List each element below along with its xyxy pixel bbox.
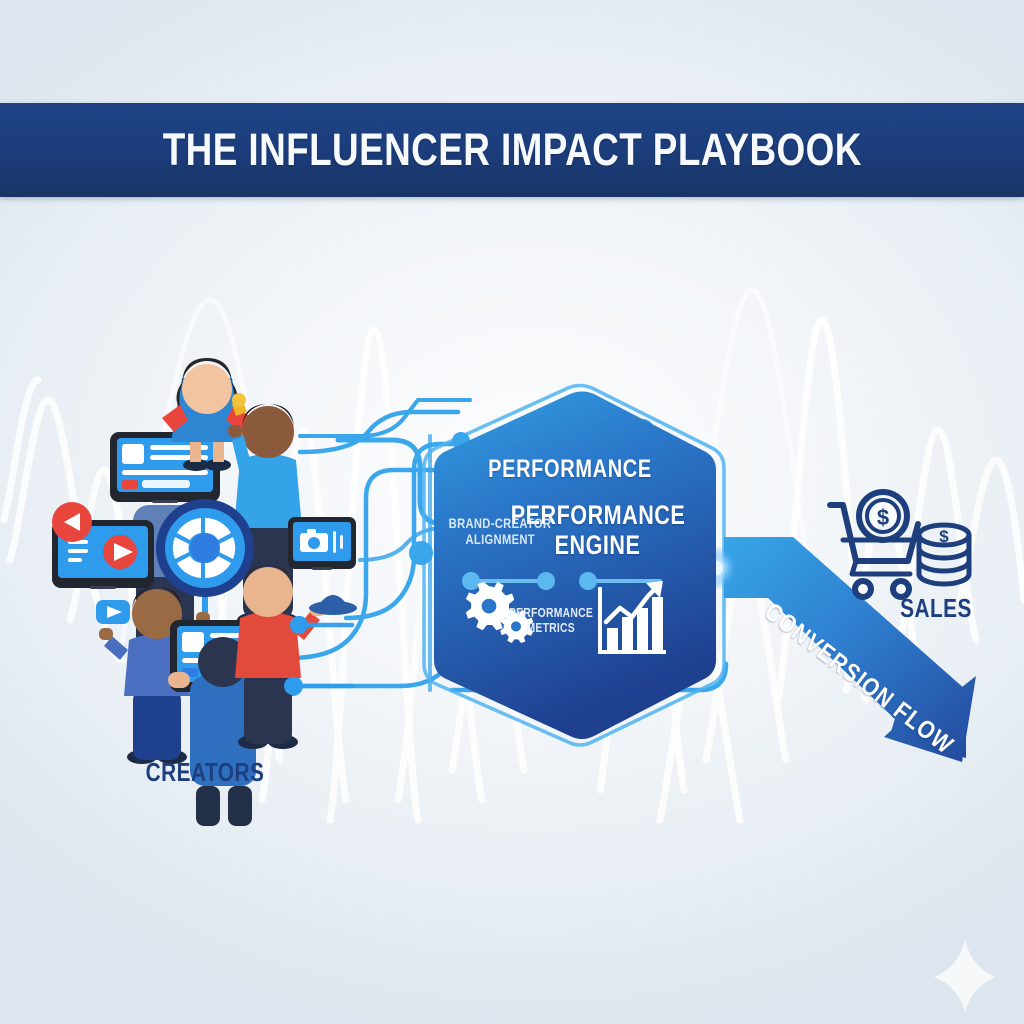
sales-label: SALES xyxy=(891,593,981,624)
engine-top-label: PERFORMANCE xyxy=(468,455,673,484)
brand-creator-alignment-label: BRAND-CREATOR ALIGNMENT xyxy=(436,515,564,547)
infographic-canvas: THE INFLUENCER IMPACT PLAYBOOK xyxy=(0,0,1024,1024)
creators-label: CREATORS xyxy=(131,757,279,788)
performance-metrics-label: PERFORMANCE METRICS xyxy=(498,605,603,635)
